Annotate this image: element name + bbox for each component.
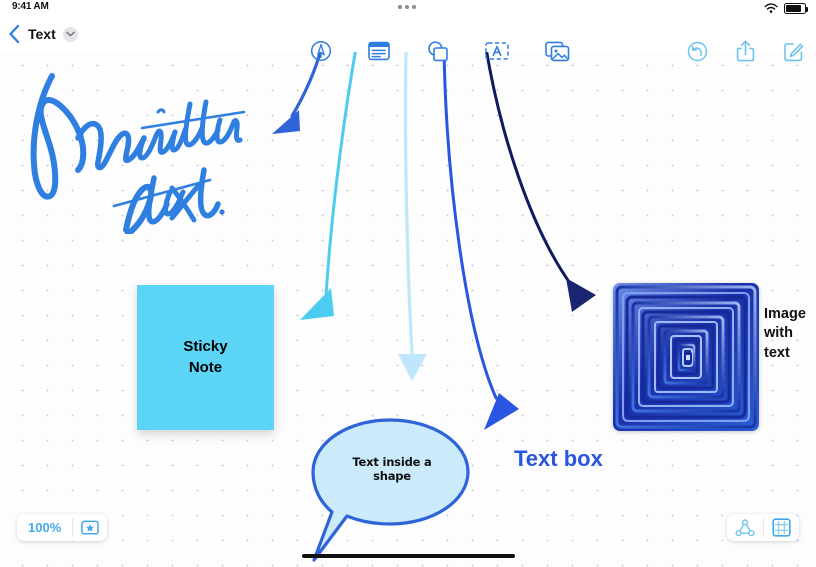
grid-icon[interactable]	[764, 518, 799, 537]
multitask-dots-icon[interactable]	[398, 5, 416, 9]
status-bar: 9:41 AM	[0, 0, 816, 18]
handwritten-text-object[interactable]	[14, 54, 264, 234]
speech-bubble-object[interactable]	[308, 416, 473, 566]
sticky-note-object[interactable]: Sticky Note	[137, 285, 274, 430]
sticky-note-icon[interactable]	[368, 41, 390, 61]
handwriting-strokes	[14, 54, 264, 234]
toolbar-actions-group	[687, 40, 804, 62]
sticky-note-label: Sticky Note	[183, 337, 227, 378]
nested-squares-image	[613, 283, 759, 431]
image-icon[interactable]	[545, 41, 570, 62]
shapes-icon[interactable]	[426, 40, 449, 62]
page-title[interactable]: Text	[28, 26, 56, 42]
speech-bubble-shape	[308, 416, 473, 566]
zoom-control: 100%	[17, 514, 107, 541]
zoom-level-label[interactable]: 100%	[17, 520, 72, 535]
fit-to-screen-icon[interactable]	[73, 520, 107, 535]
speech-bubble-label: Text inside a shape	[332, 455, 452, 483]
app-toolbar: Text	[0, 18, 816, 52]
status-indicators	[764, 3, 806, 14]
battery-icon	[784, 3, 806, 14]
status-time: 9:41 AM	[12, 1, 49, 12]
toolbar-tools-group	[310, 40, 570, 62]
undo-icon[interactable]	[687, 41, 708, 62]
text-box-icon[interactable]	[485, 41, 509, 61]
compose-icon[interactable]	[783, 41, 804, 62]
back-chevron-icon[interactable]	[8, 24, 21, 44]
toolbar-left-group: Text	[8, 24, 78, 44]
home-indicator[interactable]	[302, 554, 515, 558]
text-box-object[interactable]: Text box	[514, 446, 603, 472]
node-map-icon[interactable]	[727, 519, 763, 537]
wifi-icon	[764, 3, 778, 14]
pen-circle-icon[interactable]	[310, 40, 332, 62]
image-caption: Image with text	[764, 305, 816, 363]
chevron-down-icon[interactable]	[63, 27, 78, 42]
share-icon[interactable]	[736, 40, 755, 62]
canvas-board[interactable]: Sticky Note Text inside a shape Text box	[0, 18, 816, 567]
image-object[interactable]	[613, 283, 759, 431]
view-mode-control	[727, 514, 799, 541]
